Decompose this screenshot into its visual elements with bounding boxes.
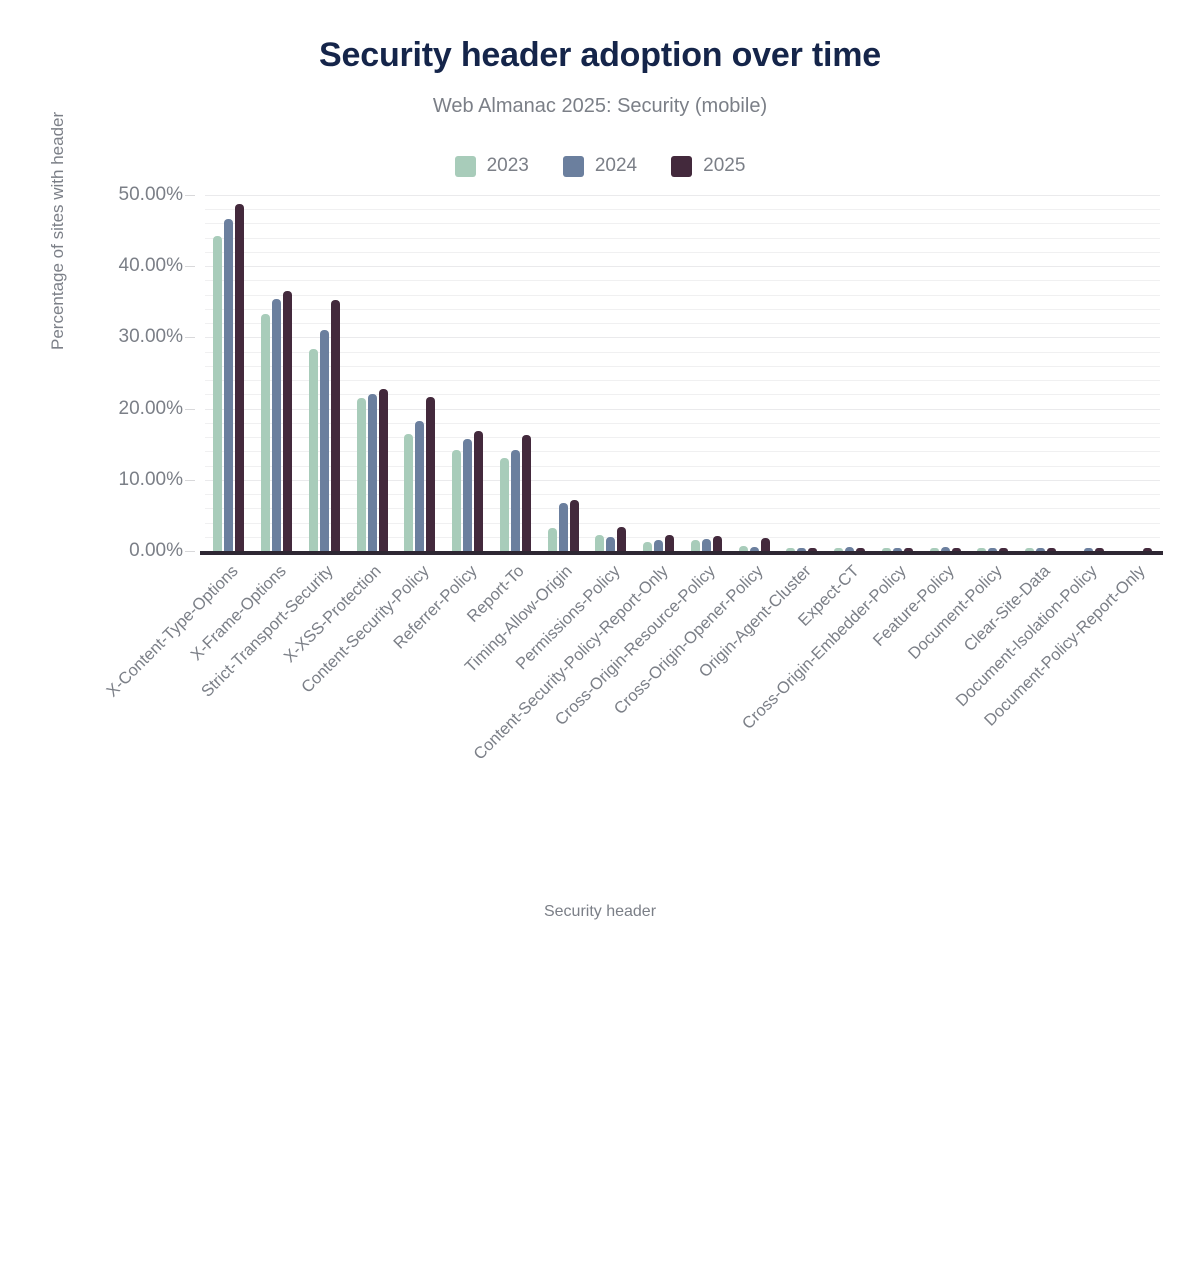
legend-label: 2023 bbox=[487, 155, 529, 177]
y-tick-mark bbox=[185, 266, 195, 267]
y-tick-label: 50.00% bbox=[119, 184, 183, 206]
bar-group bbox=[730, 195, 778, 551]
legend-item-2025[interactable]: 2025 bbox=[671, 155, 745, 177]
bar-2023[interactable] bbox=[213, 236, 222, 551]
legend-label: 2025 bbox=[703, 155, 745, 177]
legend-swatch-icon bbox=[563, 156, 584, 177]
x-tick-label: X-XSS-Protection bbox=[0, 562, 386, 1283]
bar-2025[interactable] bbox=[379, 389, 388, 551]
bar-group bbox=[587, 195, 635, 551]
bar-2025[interactable] bbox=[331, 300, 340, 551]
bar-group bbox=[301, 195, 349, 551]
x-tick-label: Cross-Origin-Resource-Policy bbox=[0, 562, 720, 1283]
x-tick-label: Content-Security-Policy-Report-Only bbox=[0, 562, 672, 1283]
x-tick-label: Expect-CT bbox=[143, 562, 864, 1283]
bar-group bbox=[778, 195, 826, 551]
y-tick-label: 20.00% bbox=[119, 398, 183, 420]
bar-2023[interactable] bbox=[548, 528, 557, 551]
x-tick-label: Clear-Site-Data bbox=[334, 562, 1055, 1283]
bar-group bbox=[1112, 195, 1160, 551]
bar-2023[interactable] bbox=[595, 535, 604, 551]
bar-2024[interactable] bbox=[559, 503, 568, 551]
bar-2024[interactable] bbox=[654, 540, 663, 551]
bar-2023[interactable] bbox=[309, 349, 318, 551]
bar-2025[interactable] bbox=[665, 535, 674, 551]
bar-group bbox=[539, 195, 587, 551]
bar-2023[interactable] bbox=[261, 314, 270, 551]
bar-group bbox=[348, 195, 396, 551]
y-tick-label: 40.00% bbox=[119, 255, 183, 277]
y-axis-ticks: 0.00%10.00%20.00%30.00%40.00%50.00% bbox=[0, 195, 195, 551]
y-tick-mark bbox=[185, 551, 195, 552]
bar-2024[interactable] bbox=[415, 421, 424, 551]
bar-2023[interactable] bbox=[404, 434, 413, 551]
x-tick-label: Permissions-Policy bbox=[0, 562, 624, 1283]
bar-2025[interactable] bbox=[235, 204, 244, 551]
bar-2025[interactable] bbox=[713, 536, 722, 551]
bar-group bbox=[635, 195, 683, 551]
chart-title: Security header adoption over time bbox=[0, 36, 1200, 75]
x-tick-label: Cross-Origin-Opener-Policy bbox=[47, 562, 768, 1283]
legend-swatch-icon bbox=[455, 156, 476, 177]
bar-group bbox=[1065, 195, 1113, 551]
bar-group bbox=[921, 195, 969, 551]
bar-2025[interactable] bbox=[426, 397, 435, 552]
y-tick-label: 0.00% bbox=[129, 540, 183, 562]
bar-2024[interactable] bbox=[320, 330, 329, 551]
chart-subtitle: Web Almanac 2025: Security (mobile) bbox=[0, 95, 1200, 118]
x-tick-label: Report-To bbox=[0, 562, 529, 1283]
bar-group bbox=[253, 195, 301, 551]
bar-group bbox=[683, 195, 731, 551]
bar-group bbox=[826, 195, 874, 551]
bar-group bbox=[205, 195, 253, 551]
chart-legend[interactable]: 202320242025 bbox=[0, 155, 1200, 177]
bar-group bbox=[396, 195, 444, 551]
y-tick-mark bbox=[185, 409, 195, 410]
y-tick-label: 30.00% bbox=[119, 326, 183, 348]
bar-2025[interactable] bbox=[522, 435, 531, 551]
bar-group bbox=[492, 195, 540, 551]
x-tick-label: Referrer-Policy bbox=[0, 562, 481, 1283]
x-tick-label: Document-Policy bbox=[286, 562, 1007, 1283]
x-tick-label: Feature-Policy bbox=[238, 562, 959, 1283]
x-axis-line bbox=[200, 551, 1163, 555]
bar-group bbox=[444, 195, 492, 551]
x-tick-label: X-Content-Type-Options bbox=[0, 562, 242, 1283]
y-tick-mark bbox=[185, 195, 195, 196]
bar-2025[interactable] bbox=[617, 527, 626, 551]
bar-2024[interactable] bbox=[511, 450, 520, 551]
x-tick-label: Cross-Origin-Embedder-Policy bbox=[190, 562, 911, 1283]
plot-area bbox=[205, 195, 1160, 551]
x-tick-label: X-Frame-Options bbox=[0, 562, 290, 1283]
legend-label: 2024 bbox=[595, 155, 637, 177]
bar-2025[interactable] bbox=[761, 538, 770, 551]
bar-group bbox=[874, 195, 922, 551]
legend-item-2023[interactable]: 2023 bbox=[455, 155, 529, 177]
bar-2023[interactable] bbox=[500, 458, 509, 551]
bar-2025[interactable] bbox=[570, 500, 579, 551]
bar-2023[interactable] bbox=[691, 540, 700, 551]
x-axis-title: Security header bbox=[0, 903, 1200, 921]
y-tick-mark bbox=[185, 480, 195, 481]
bar-2023[interactable] bbox=[452, 450, 461, 551]
legend-swatch-icon bbox=[671, 156, 692, 177]
x-tick-label: Content-Security-Policy bbox=[0, 562, 433, 1283]
bar-2025[interactable] bbox=[474, 431, 483, 551]
bar-2023[interactable] bbox=[643, 542, 652, 551]
x-tick-label: Document-Isolation-Policy bbox=[381, 562, 1102, 1283]
legend-item-2024[interactable]: 2024 bbox=[563, 155, 637, 177]
y-tick-mark bbox=[185, 337, 195, 338]
y-tick-label: 10.00% bbox=[119, 469, 183, 491]
bar-2024[interactable] bbox=[368, 394, 377, 551]
bar-2025[interactable] bbox=[283, 291, 292, 551]
bar-group bbox=[1017, 195, 1065, 551]
x-tick-label: Timing-Allow-Origin bbox=[0, 562, 577, 1283]
bar-2024[interactable] bbox=[272, 299, 281, 551]
x-tick-label: Origin-Agent-Cluster bbox=[95, 562, 816, 1283]
chart-figure: Security header adoption over time Web A… bbox=[0, 0, 1200, 992]
x-tick-label: Strict-Transport-Security bbox=[0, 562, 338, 1283]
bar-group bbox=[969, 195, 1017, 551]
bar-2024[interactable] bbox=[224, 219, 233, 551]
bar-2024[interactable] bbox=[606, 537, 615, 551]
bar-2023[interactable] bbox=[357, 398, 366, 551]
bar-2024[interactable] bbox=[702, 539, 711, 551]
bar-2024[interactable] bbox=[463, 439, 472, 551]
x-tick-label: Document-Policy-Report-Only bbox=[429, 562, 1150, 1283]
